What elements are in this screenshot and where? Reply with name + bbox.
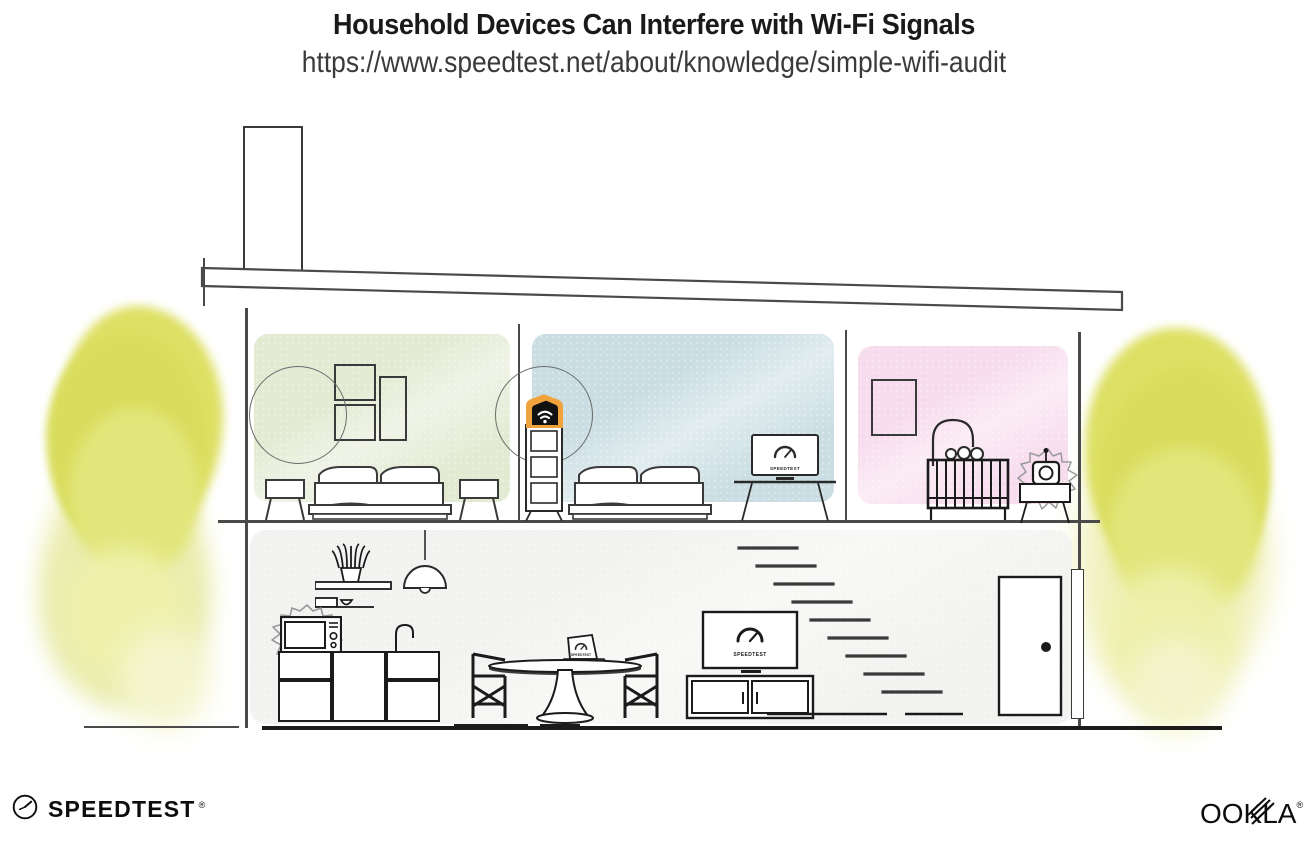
source-url: https://www.speedtest.net/about/knowledg… <box>78 46 1229 79</box>
house-illustration: SPEEDTEST <box>0 108 1308 748</box>
header: Household Devices Can Interfere with Wi-… <box>0 0 1308 79</box>
nursery-side-table <box>1018 482 1072 524</box>
wall-art-frame-3 <box>379 376 407 441</box>
page-title: Household Devices Can Interfere with Wi-… <box>46 10 1262 40</box>
nightstand-right <box>458 478 500 522</box>
chimney <box>243 126 303 276</box>
desk-with-monitor: SPEEDTEST <box>730 433 840 522</box>
page-root: Household Devices Can Interfere with Wi-… <box>0 0 1308 861</box>
speedtest-gauge-icon <box>12 794 38 825</box>
speedtest-wordmark: SPEEDTEST <box>48 796 196 823</box>
nightstand-left <box>264 478 306 522</box>
kitchen-counter-run <box>278 651 440 727</box>
footer: SPEEDTEST ® OOKLA ® <box>0 780 1308 861</box>
bed-green-room <box>305 453 455 521</box>
kitchen-shelves <box>315 538 425 608</box>
speedtest-trademark: ® <box>199 800 206 810</box>
router-highlight-circle <box>249 366 347 464</box>
svg-text:SPEEDTEST: SPEEDTEST <box>571 653 592 657</box>
nursery-art-frame <box>871 379 917 436</box>
speedtest-logo[interactable]: SPEEDTEST ® <box>12 794 205 825</box>
roof-left-edge <box>203 258 205 306</box>
ground-line-left <box>84 726 239 728</box>
microwave[interactable] <box>280 616 342 654</box>
tree-left-foliage <box>40 298 240 738</box>
roof-slab <box>200 256 1125 312</box>
ookla-trademark: ® <box>1296 800 1303 810</box>
crib <box>925 456 1011 522</box>
wifi-router[interactable] <box>520 394 568 432</box>
shelf-unit <box>524 423 564 522</box>
tree-right-foliage <box>1075 308 1290 738</box>
interior-wall-2 <box>845 330 847 520</box>
front-door[interactable] <box>997 575 1063 717</box>
kitchen-faucet <box>393 622 419 654</box>
staircase <box>735 536 965 724</box>
side-window-panel <box>1071 569 1084 719</box>
ookla-chevron-icon <box>1249 796 1285 835</box>
svg-text:SPEEDTEST: SPEEDTEST <box>770 466 800 471</box>
exterior-left-wall <box>245 308 248 728</box>
ookla-logo[interactable]: OOKLA ® <box>1200 798 1303 830</box>
bed-blue-room <box>565 453 715 521</box>
dining-table-set: SPEEDTEST <box>460 626 670 730</box>
